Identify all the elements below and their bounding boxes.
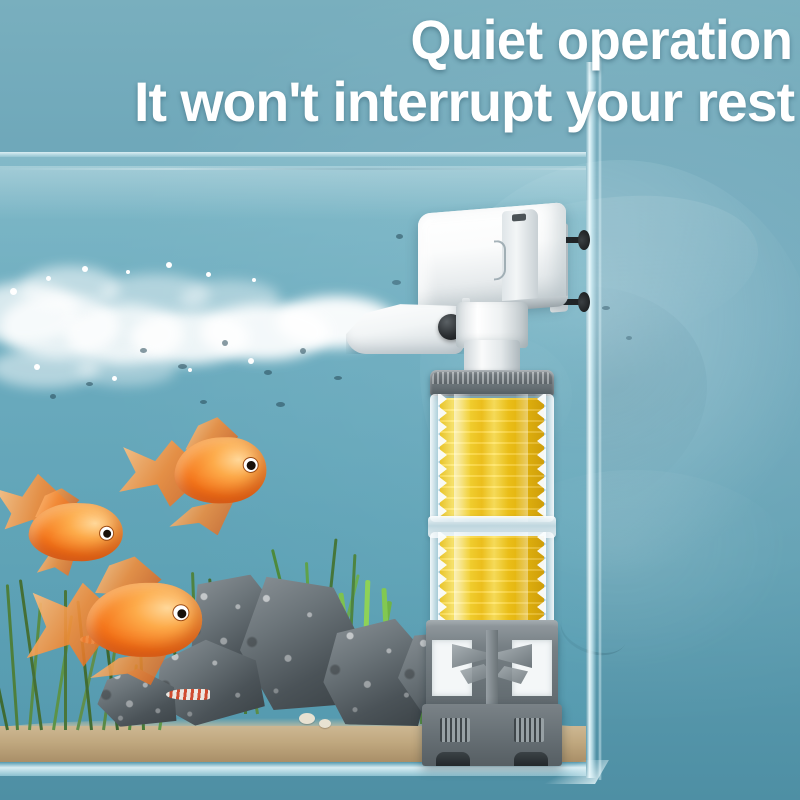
cap-ridges bbox=[432, 372, 552, 384]
motor-handle bbox=[494, 240, 506, 281]
suction-cup-icon bbox=[562, 230, 596, 250]
chamber-highlight-right bbox=[516, 394, 528, 522]
goldfish-upper-right bbox=[117, 414, 271, 540]
goldfish-lower bbox=[26, 557, 210, 689]
sponge-zigzag-right bbox=[531, 394, 546, 522]
tank-glass-right-edge-2 bbox=[598, 58, 602, 780]
small-striped-fish bbox=[166, 689, 210, 700]
base-foot bbox=[514, 752, 548, 766]
base-foot bbox=[436, 752, 470, 766]
pebble bbox=[299, 713, 315, 724]
chamber-highlight bbox=[454, 394, 470, 522]
pump-base bbox=[422, 704, 562, 766]
impeller-section bbox=[426, 626, 558, 712]
upper-filter-chamber bbox=[430, 394, 554, 522]
intake-vent bbox=[514, 718, 544, 742]
water-surface-line bbox=[0, 168, 586, 170]
pebble bbox=[319, 719, 331, 728]
motor-front-panel bbox=[502, 209, 538, 306]
impeller-shaft bbox=[486, 630, 498, 710]
pump-coupling bbox=[464, 340, 520, 374]
motor-vent-slot bbox=[512, 213, 526, 221]
intake-vent bbox=[440, 718, 470, 742]
floating-debris bbox=[596, 300, 716, 390]
headline-line-2: It won't interrupt your rest bbox=[8, 70, 800, 134]
tank-top-rim bbox=[0, 152, 586, 157]
headline-line-1: Quiet operation bbox=[48, 8, 800, 72]
promo-image: Quiet operation It won't interrupt your … bbox=[0, 0, 800, 800]
sponge-zigzag-left bbox=[438, 394, 453, 522]
aquarium-filter-pump bbox=[390, 206, 590, 776]
